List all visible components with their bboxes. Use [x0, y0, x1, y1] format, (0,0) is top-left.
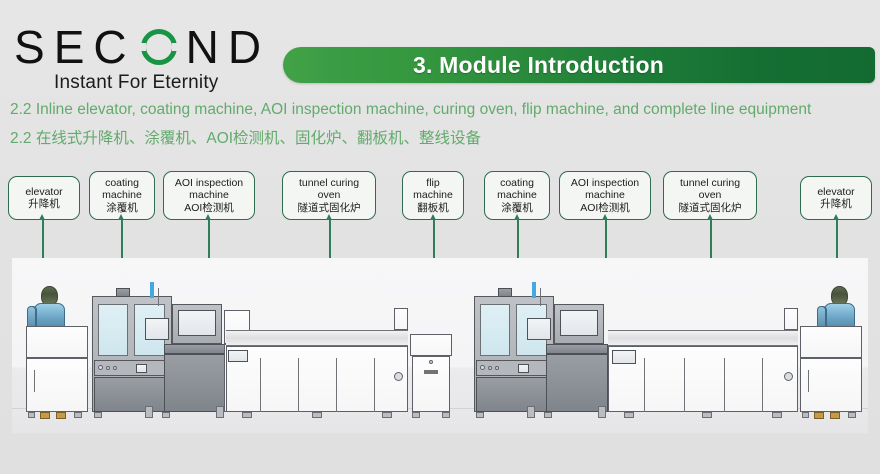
signal-tower	[532, 282, 536, 298]
brand-logo: S E C N D Instant For Eternity	[10, 24, 265, 94]
production-line-illustration	[12, 258, 868, 433]
panel-divider	[374, 358, 375, 412]
foot	[74, 412, 82, 418]
tunnel-oven-2-display	[612, 350, 636, 364]
signal-tower	[150, 282, 154, 298]
callout-label-cn: 涂覆机	[501, 202, 533, 215]
callout-label-en: flip	[426, 177, 439, 190]
panel-divider	[762, 358, 763, 412]
panel-divider	[724, 358, 725, 412]
tunnel-oven-2-conveyor	[608, 330, 798, 346]
foot	[242, 412, 252, 418]
elevator-right-top	[800, 326, 862, 358]
elevator-right-handle	[808, 370, 809, 392]
aoi-2-monitor	[527, 318, 551, 340]
callout-label-en: tunnel curing	[680, 177, 740, 190]
foot	[702, 412, 712, 418]
coating-machine-2-cap	[498, 288, 512, 297]
caster-pad	[830, 412, 840, 419]
caster-pad	[814, 412, 824, 419]
page-title: 3. Module Introduction	[413, 47, 664, 83]
callout-coating-1[interactable]: coatingmachine涂覆机	[89, 171, 155, 220]
caster-pad	[40, 412, 50, 419]
tunnel-oven-2-body	[608, 346, 798, 412]
foot	[28, 412, 35, 418]
callout-label-cn: AOI检测机	[184, 202, 234, 215]
callout-label-en: coating	[500, 177, 534, 190]
callout-tunnel-oven-1[interactable]: tunnel curingoven隧道式固化炉	[282, 171, 376, 220]
elevator-left-handle	[34, 370, 35, 392]
callout-label-en: tunnel curing	[299, 177, 359, 190]
aoi-1-rail	[164, 344, 226, 354]
panel-divider	[684, 358, 685, 412]
aoi-2-mast	[540, 288, 541, 306]
knob	[480, 365, 485, 370]
logo-letter-e: E	[54, 24, 86, 70]
section-title-banner: 3. Module Introduction	[283, 47, 875, 83]
brand-wordmark: S E C N D	[10, 24, 265, 70]
logo-letter-d: D	[228, 24, 262, 70]
tunnel-oven-1-display	[228, 350, 248, 362]
callout-label-en: machine	[497, 189, 537, 202]
tunnel-oven-1-gauge	[394, 372, 403, 381]
knob	[98, 365, 103, 370]
callout-label-en: coating	[105, 177, 139, 190]
knob	[106, 366, 110, 370]
coating-machine-1-cap	[116, 288, 130, 297]
callout-label-en: machine	[413, 189, 453, 202]
leader-aoi-2-arrow-icon	[602, 214, 608, 220]
leader-flip-arrow-icon	[430, 214, 436, 220]
leader-elevator-right-arrow-icon	[833, 214, 839, 220]
aoi-2-viewport	[560, 310, 598, 336]
coating-machine-2-display	[518, 364, 529, 373]
aoi-1-viewport	[178, 310, 216, 336]
logo-letter-s: S	[14, 24, 46, 70]
aoi-1-monitor	[145, 318, 169, 340]
foot	[216, 406, 224, 418]
foot	[624, 412, 634, 418]
callout-label-cn: 隧道式固化炉	[679, 202, 742, 215]
elevator-left-body	[26, 358, 88, 412]
callout-aoi-1[interactable]: AOI inspectionmachineAOI检测机	[163, 171, 255, 220]
knob	[429, 360, 433, 364]
callout-label-en: machine	[102, 189, 142, 202]
coating-machine-1-window-left	[98, 304, 128, 356]
logo-letter-n: N	[186, 24, 220, 70]
leader-aoi-1-arrow-icon	[205, 214, 211, 220]
tunnel-oven-1-body	[226, 346, 408, 412]
coating-machine-2-window-left	[480, 304, 510, 356]
leader-tunnel-2-arrow-icon	[707, 214, 713, 220]
tunnel-oven-1-exhaust	[394, 308, 408, 330]
callout-label-en: AOI inspection	[571, 177, 639, 190]
callout-label-cn: 升降机	[28, 198, 60, 211]
leader-coating-2-arrow-icon	[514, 214, 520, 220]
slide-root: S E C N D Instant For Eternity 3. Module…	[0, 0, 880, 474]
callout-coating-2[interactable]: coatingmachine涂覆机	[484, 171, 550, 220]
foot	[544, 412, 552, 418]
foot	[476, 412, 484, 418]
foot	[412, 412, 420, 418]
flip-machine-top	[410, 334, 452, 356]
foot	[598, 406, 606, 418]
callout-flip-machine[interactable]: flipmachine翻板机	[402, 171, 464, 220]
callout-label-en: machine	[189, 189, 229, 202]
caster-pad	[56, 412, 66, 419]
brand-tagline: Instant For Eternity	[10, 72, 265, 94]
circle-ring-icon	[141, 29, 177, 65]
knob	[488, 366, 492, 370]
knob	[495, 366, 499, 370]
elevator-right-body	[800, 358, 862, 412]
callout-label-en: machine	[585, 189, 625, 202]
tunnel-oven-2-gauge	[784, 372, 793, 381]
aoi-2-body	[546, 354, 608, 412]
callout-aoi-2[interactable]: AOI inspectionmachineAOI检测机	[559, 171, 651, 220]
callout-label-en: oven	[318, 189, 341, 202]
foot	[848, 412, 856, 418]
foot	[312, 412, 322, 418]
leader-coating-1-arrow-icon	[118, 214, 124, 220]
subtitle-english: 2.2 Inline elevator, coating machine, AO…	[10, 101, 811, 119]
leader-elevator-left-arrow-icon	[39, 214, 45, 220]
elevator-left-top	[26, 326, 88, 358]
foot	[772, 412, 782, 418]
callout-label-cn: 隧道式固化炉	[298, 202, 361, 215]
tunnel-oven-2-exhaust	[784, 308, 798, 330]
aoi-1-mast	[158, 288, 159, 306]
coating-machine-1-display	[136, 364, 147, 373]
foot	[442, 412, 450, 418]
subtitle-chinese: 2.2 在线式升降机、涂覆机、AOI检测机、固化炉、翻板机、整线设备	[10, 126, 481, 148]
panel-divider	[260, 358, 261, 412]
leader-tunnel-1-arrow-icon	[326, 214, 332, 220]
foot	[162, 412, 170, 418]
panel-divider	[644, 358, 645, 412]
panel-divider	[298, 358, 299, 412]
foot	[382, 412, 392, 418]
tunnel-oven-1-conveyor	[226, 330, 408, 346]
callout-label-cn: AOI检测机	[580, 202, 630, 215]
foot	[145, 406, 153, 418]
foot	[527, 406, 535, 418]
aoi-2-rail	[546, 344, 608, 354]
coating-machine-2-base	[476, 377, 552, 412]
aoi-1-body	[164, 354, 226, 412]
foot	[94, 412, 102, 418]
panel-divider	[336, 358, 337, 412]
callout-label-cn: 翻板机	[417, 202, 449, 215]
flip-machine-handle	[424, 370, 438, 374]
callout-label-cn: 升降机	[820, 198, 852, 211]
logo-letter-c: C	[93, 24, 127, 70]
foot	[802, 412, 809, 418]
callout-label-en: AOI inspection	[175, 177, 243, 190]
flip-machine-body	[412, 356, 450, 412]
callout-label-en: elevator	[817, 186, 854, 199]
callout-label-en: oven	[699, 189, 722, 202]
callout-label-en: elevator	[25, 186, 62, 199]
coating-machine-1-base	[94, 377, 170, 412]
callout-label-cn: 涂覆机	[106, 202, 138, 215]
callout-tunnel-oven-2[interactable]: tunnel curingoven隧道式固化炉	[663, 171, 757, 220]
knob	[113, 366, 117, 370]
